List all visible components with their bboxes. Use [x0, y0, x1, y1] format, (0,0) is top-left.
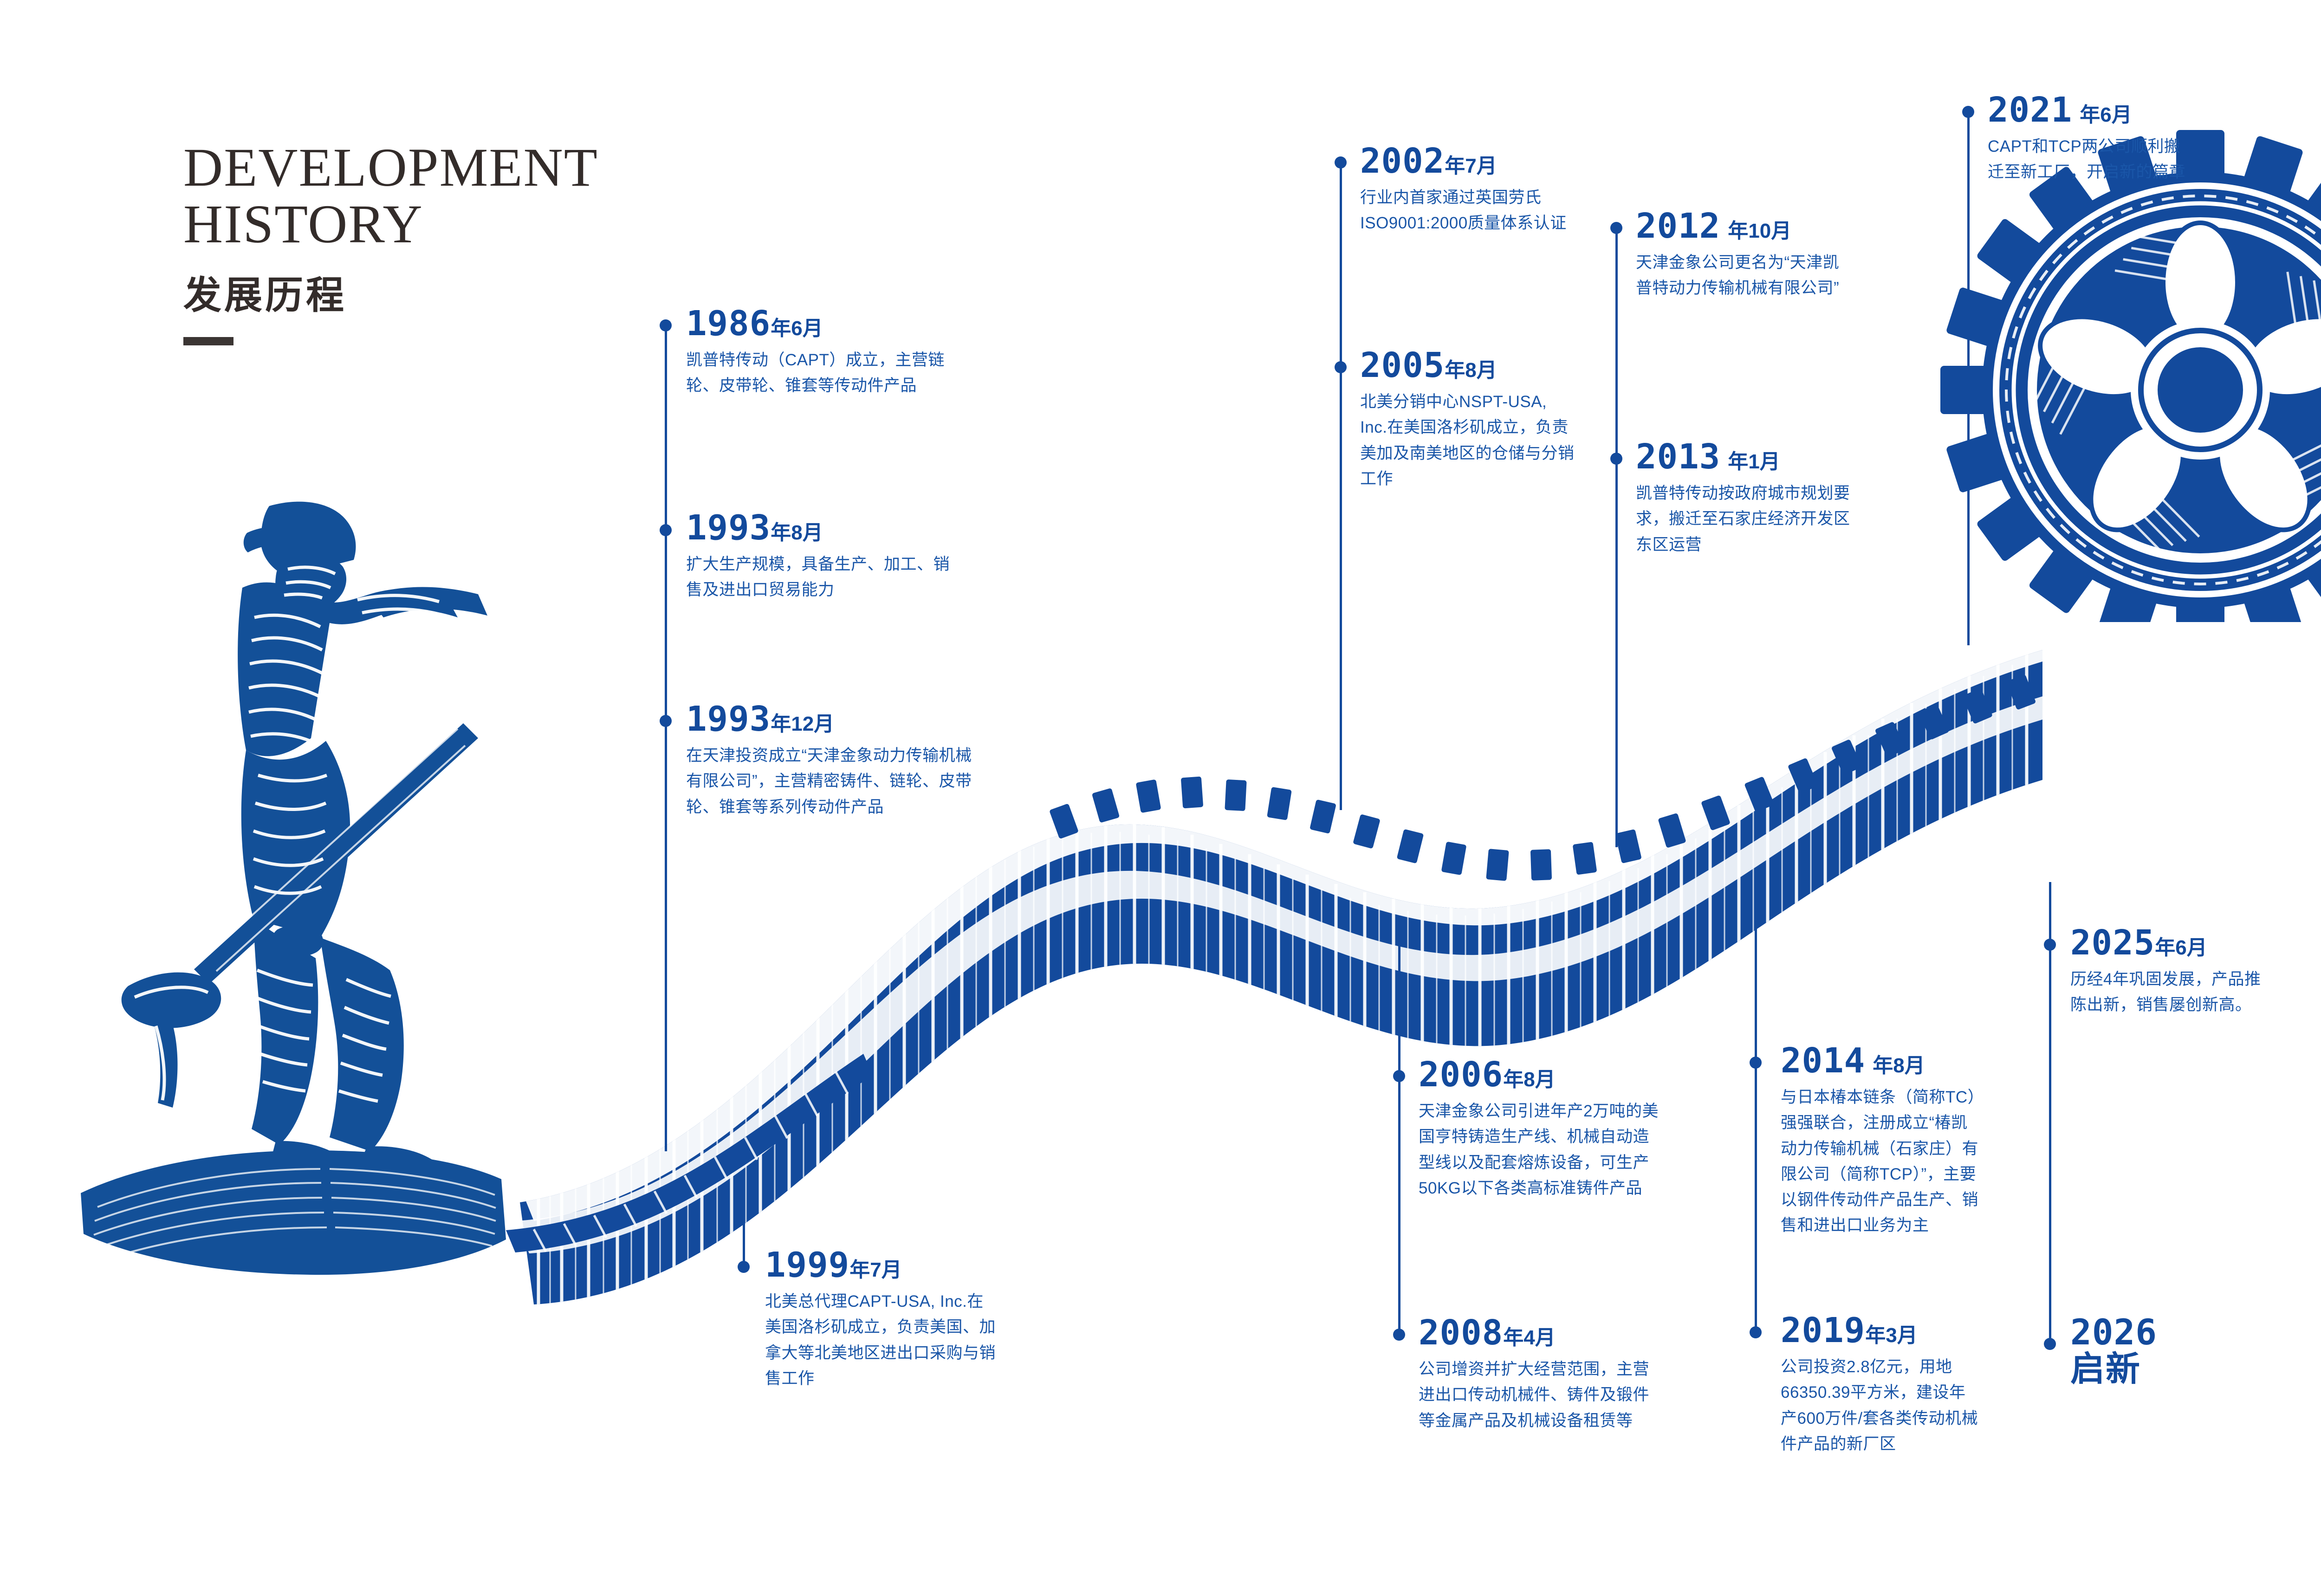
- entry-year: 2019: [1781, 1311, 1865, 1350]
- timeline-dot-1993-08: [660, 524, 672, 536]
- connector-line-2021: [1967, 111, 1970, 645]
- title-underline-rule: [183, 337, 233, 345]
- connector-line-column-2-lower: [1398, 933, 1400, 1337]
- connector-line-column-4: [2049, 882, 2051, 1346]
- entry-month: 年8月: [1445, 359, 1497, 382]
- timeline-entry-1993-12[interactable]: 1993年12月 在天津投资成立“天津金象动力传输机械有限公司”，主营精密铸件、…: [686, 702, 974, 820]
- entry-month: 年6月: [2155, 936, 2207, 959]
- connector-line-column-3: [1615, 225, 1618, 847]
- large-gear-illustration: [1894, 130, 2321, 622]
- timeline-entry-2025[interactable]: 2025年6月 历经4年巩固发展，产品推陈出新，销售屡创新高。: [2070, 926, 2275, 1018]
- entry-month: 年7月: [849, 1259, 901, 1281]
- entry-year-line: 2008年4月: [1419, 1316, 1665, 1350]
- entry-description: CAPT和TCP两公司顺利搬迁至新工厂，开启新的篇章: [1988, 134, 2197, 185]
- entry-year: 2006: [1419, 1055, 1503, 1095]
- timeline-entry-2005[interactable]: 2005年8月 北美分销中心NSPT-USA, Inc.在美国洛杉矶成立，负责美…: [1360, 348, 1578, 492]
- entry-year-line: 2021年6月: [1988, 93, 2197, 127]
- timeline-entry-2006[interactable]: 2006年8月 天津金象公司引进年产2万吨的美国亨特铸造生产线、机械自动造型线以…: [1419, 1058, 1665, 1201]
- entry-year-line: 2019年3月: [1781, 1313, 1980, 1348]
- timeline-entry-1999[interactable]: 1999年7月 北美总代理CAPT-USA, Inc.在美国洛杉矶成立，负责美国…: [765, 1248, 997, 1391]
- title-line-1: DEVELOPMENT: [183, 139, 787, 196]
- timeline-dot-2019: [1750, 1326, 1762, 1338]
- entry-year: 2012: [1636, 206, 1720, 246]
- entry-year-line: 1986年6月: [686, 306, 965, 341]
- entry-year-line: 2014年8月: [1781, 1044, 1980, 1078]
- timeline-dot-2013: [1610, 453, 1622, 465]
- entry-description: 历经4年巩固发展，产品推陈出新，销售屡创新高。: [2070, 967, 2275, 1018]
- entry-month: 年8月: [1503, 1068, 1555, 1091]
- timeline-entry-2014[interactable]: 2014年8月 与日本椿本链条（简称TC）强强联合，注册成立“椿凯动力传输机械（…: [1781, 1044, 1980, 1239]
- entry-year: 2005: [1360, 345, 1445, 385]
- connector-line-column-1: [665, 325, 667, 1151]
- entry-year: 2008: [1419, 1313, 1503, 1353]
- timeline-dot-2012: [1610, 222, 1622, 234]
- entry-description: 公司投资2.8亿元，用地66350.39平方米，建设年产600万件/套各类传动机…: [1781, 1354, 1980, 1457]
- timeline-entry-1986[interactable]: 1986年6月 凯普特传动（CAPT）成立，主营链轮、皮带轮、锥套等传动件产品: [686, 306, 965, 399]
- timeline-entry-2008[interactable]: 2008年4月 公司增资并扩大经营范围，主营进出口传动机械件、铸件及锻件等金属产…: [1419, 1316, 1665, 1434]
- entry-year: 1999: [765, 1245, 849, 1285]
- entry-description: 在天津投资成立“天津金象动力传输机械有限公司”，主营精密铸件、链轮、皮带轮、锥套…: [686, 743, 974, 820]
- infographic-canvas: DEVELOPMENT HISTORY 发展历程 1986年6月 凯普特传动（C…: [0, 0, 2321, 1596]
- timeline-dot-2026: [2044, 1338, 2056, 1350]
- entry-month: 年3月: [1865, 1324, 1917, 1347]
- entry-year: 2021: [1988, 90, 2072, 130]
- timeline-dot-1986: [660, 319, 672, 331]
- entry-month: 年10月: [1728, 220, 1791, 242]
- title-english: DEVELOPMENT HISTORY: [183, 139, 787, 252]
- entry-description: 北美分销中心NSPT-USA, Inc.在美国洛杉矶成立，负责美加及南美地区的仓…: [1360, 389, 1578, 492]
- title-line-2: HISTORY: [183, 196, 787, 253]
- entry-description: 凯普特传动按政府城市规划要求，搬迁至石家庄经济开发区东区运营: [1636, 480, 1854, 558]
- connector-line-column-2: [1340, 160, 1342, 810]
- entry-year-line: 2006年8月: [1419, 1058, 1665, 1092]
- entry-description: 与日本椿本链条（简称TC）强强联合，注册成立“椿凯动力传输机械（石家庄）有限公司…: [1781, 1084, 1980, 1239]
- entry-year: 2013: [1636, 437, 1720, 477]
- entry-description: 天津金象公司引进年产2万吨的美国亨特铸造生产线、机械自动造型线以及配套熔炼设备，…: [1419, 1098, 1665, 1201]
- entry-month: 年6月: [771, 317, 823, 340]
- timeline-dot-2025: [2044, 939, 2056, 951]
- entry-year-line: 1999年7月: [765, 1248, 997, 1282]
- entry-month: 年8月: [1873, 1054, 1925, 1077]
- timeline-dot-1993-12: [660, 715, 672, 727]
- entry-year-line: 2025年6月: [2070, 926, 2275, 960]
- entry-description: 北美总代理CAPT-USA, Inc.在美国洛杉矶成立，负责美国、加拿大等北美地…: [765, 1289, 997, 1391]
- closing-label: 启新: [2070, 1351, 2275, 1387]
- timeline-entry-2013[interactable]: 2013年1月 凯普特传动按政府城市规划要求，搬迁至石家庄经济开发区东区运营: [1636, 440, 1854, 558]
- closing-year: 2026: [2070, 1314, 2275, 1351]
- entry-month: 年1月: [1728, 450, 1780, 473]
- foundry-worker-illustration: [70, 478, 515, 1332]
- entry-year-line: 2005年8月: [1360, 348, 1578, 383]
- entry-year: 2025: [2070, 923, 2155, 963]
- entry-month: 年8月: [771, 521, 823, 544]
- entry-year-line: 2013年1月: [1636, 440, 1854, 474]
- timeline-entry-1993-08[interactable]: 1993年8月 扩大生产规模，具备生产、加工、销售及进出口贸易能力: [686, 511, 965, 603]
- timeline-dot-2021: [1962, 106, 1974, 118]
- timeline-dot-2006: [1393, 1070, 1405, 1082]
- timeline-entry-2019[interactable]: 2019年3月 公司投资2.8亿元，用地66350.39平方米，建设年产600万…: [1781, 1313, 1980, 1457]
- entry-year: 2014: [1781, 1041, 1865, 1081]
- timeline-entry-2026[interactable]: 2026 启新: [2070, 1314, 2275, 1387]
- timeline-dot-2005: [1335, 361, 1347, 373]
- entry-year: 2002: [1360, 141, 1445, 181]
- entry-year-line: 2002年7月: [1360, 144, 1578, 178]
- entry-description: 扩大生产规模，具备生产、加工、销售及进出口贸易能力: [686, 551, 965, 603]
- timeline-dot-2008: [1393, 1329, 1405, 1341]
- entry-year-line: 1993年12月: [686, 702, 974, 736]
- entry-year-line: 1993年8月: [686, 511, 965, 545]
- entry-year: 1986: [686, 304, 771, 344]
- entry-description: 行业内首家通过英国劳氏ISO9001:2000质量体系认证: [1360, 185, 1578, 236]
- entry-month: 年12月: [771, 713, 834, 735]
- entry-year-line: 2012年10月: [1636, 209, 1854, 243]
- timeline-entry-2021[interactable]: 2021年6月 CAPT和TCP两公司顺利搬迁至新工厂，开启新的篇章: [1988, 93, 2197, 185]
- entry-month: 年7月: [1445, 155, 1497, 177]
- entry-year: 1993: [686, 508, 771, 548]
- entry-month: 年4月: [1503, 1326, 1555, 1349]
- timeline-dot-2002: [1335, 156, 1347, 169]
- timeline-dot-1999: [738, 1261, 750, 1273]
- connector-line-1999: [743, 1170, 745, 1267]
- entry-description: 凯普特传动（CAPT）成立，主营链轮、皮带轮、锥套等传动件产品: [686, 347, 965, 399]
- entry-month: 年6月: [2080, 104, 2132, 126]
- timeline-dot-2014: [1750, 1057, 1762, 1069]
- timeline-entry-2002[interactable]: 2002年7月 行业内首家通过英国劳氏ISO9001:2000质量体系认证: [1360, 144, 1578, 236]
- entry-year: 1993: [686, 699, 771, 739]
- timeline-entry-2012[interactable]: 2012年10月 天津金象公司更名为“天津凯普特动力传输机械有限公司”: [1636, 209, 1854, 301]
- entry-description: 天津金象公司更名为“天津凯普特动力传输机械有限公司”: [1636, 250, 1854, 301]
- connector-line-column-3-lower: [1755, 905, 1757, 1337]
- entry-description: 公司增资并扩大经营范围，主营进出口传动机械件、铸件及锻件等金属产品及机械设备租赁…: [1419, 1356, 1665, 1434]
